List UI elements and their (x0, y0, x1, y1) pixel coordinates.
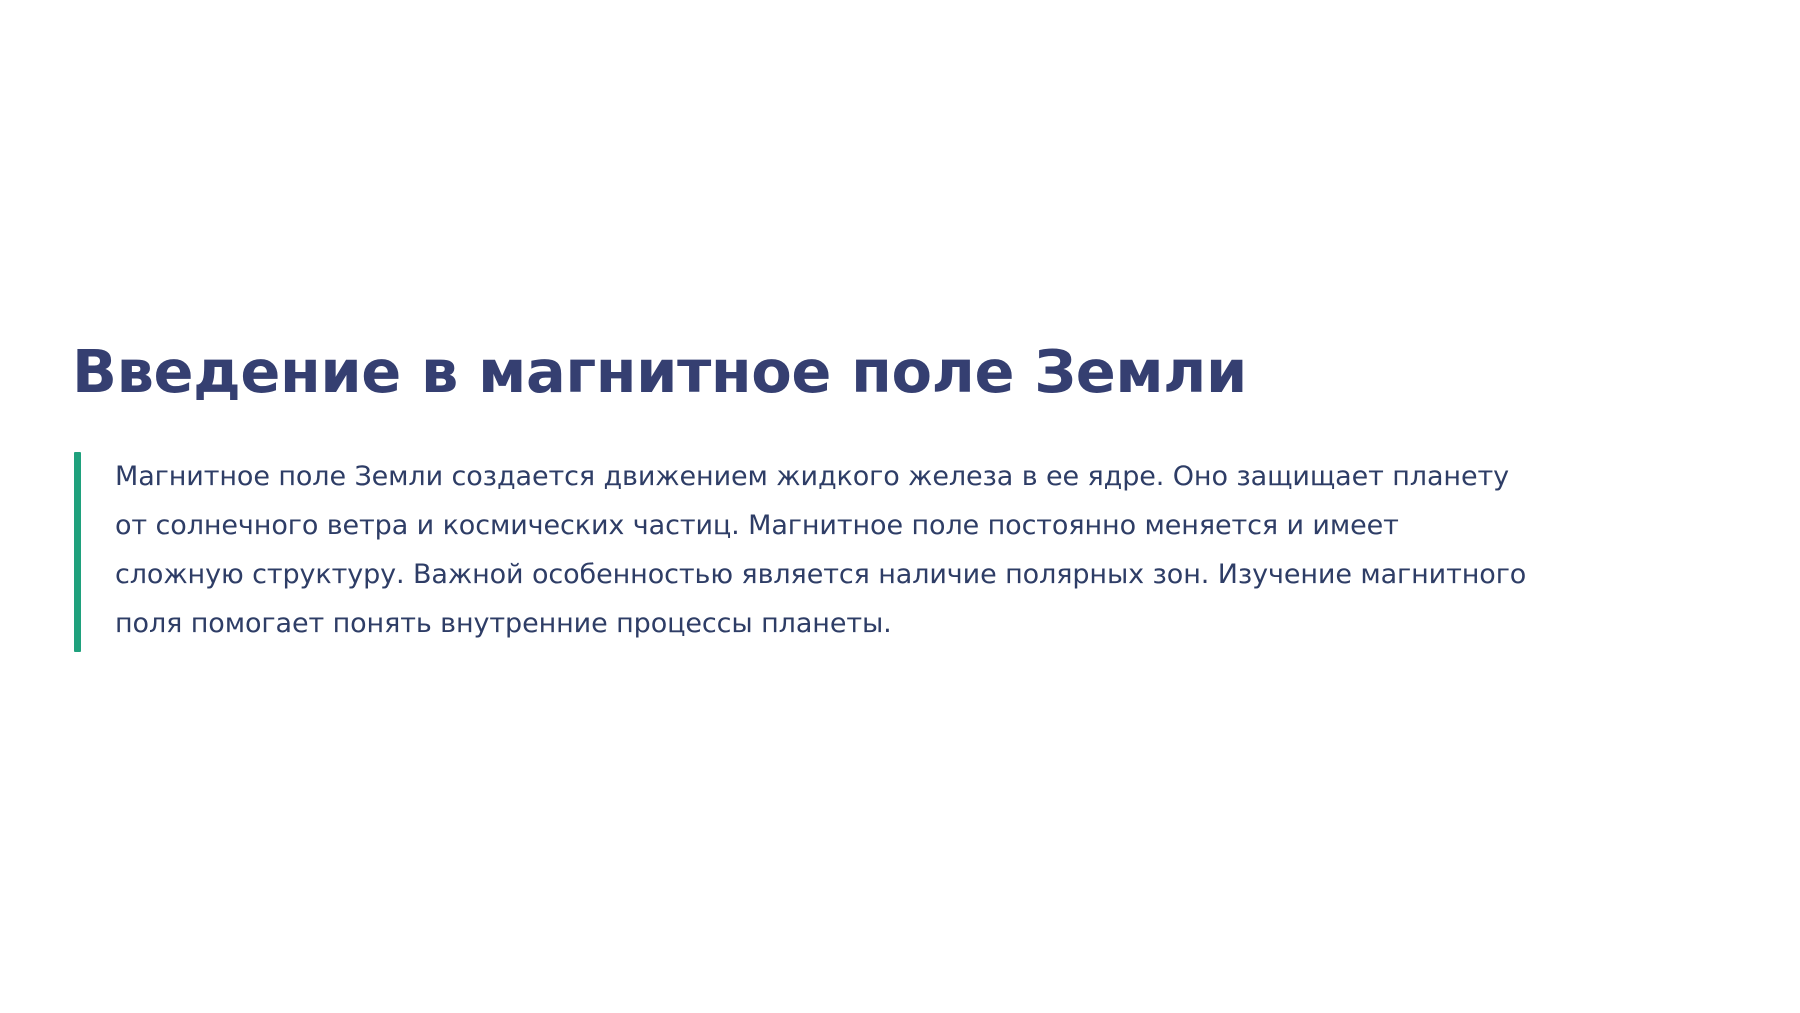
accent-bar (74, 452, 81, 652)
slide-canvas: Введение в магнитное поле Земли Магнитно… (0, 0, 1800, 1013)
body-paragraph: Магнитное поле Земли создается движением… (115, 452, 1535, 648)
page-title: Введение в магнитное поле Земли (72, 340, 1732, 404)
body-text-container: Магнитное поле Земли создается движением… (72, 452, 1732, 652)
slide-content-block: Введение в магнитное поле Земли Магнитно… (72, 340, 1732, 652)
